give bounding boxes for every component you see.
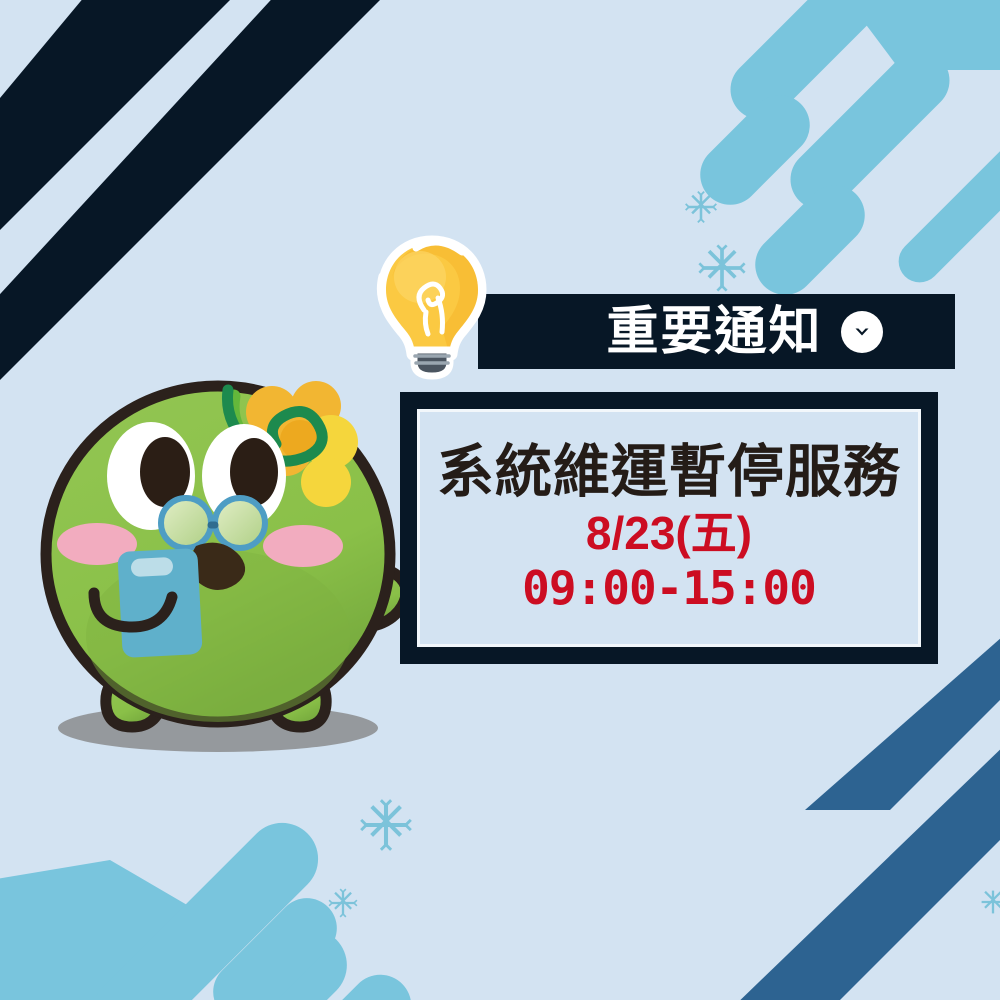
notice-poster: 系統維運暫停服務 8/23(五) 09:00-15:00 重要通知 [0, 0, 1000, 1000]
snowflake-bottom-large [360, 799, 412, 851]
notice-banner: 重要通知 [478, 294, 955, 369]
mascot-phone [117, 548, 202, 658]
mascot-character [28, 368, 448, 768]
snowflake-top-large [698, 244, 745, 291]
blue-capsule-group-top-right [688, 0, 1000, 307]
notice-date: 8/23(五) [586, 508, 752, 560]
snowflake-top-small [685, 191, 717, 223]
notice-card: 系統維運暫停服務 8/23(五) 09:00-15:00 [400, 392, 938, 664]
blue-capsule-group-bottom-left [0, 808, 424, 1000]
notice-heading: 系統維運暫停服務 [437, 441, 901, 504]
notice-card-inner: 系統維運暫停服務 8/23(五) 09:00-15:00 [417, 409, 921, 647]
diagonal-stripe-top-left-2 [0, 0, 390, 390]
banner-title: 重要通知 [550, 306, 822, 358]
snowflake-bottom-small [329, 889, 358, 918]
chevron-down-icon[interactable] [841, 311, 883, 353]
diagonal-stripe-top-left-1 [0, 0, 240, 240]
snowflake-right-small [982, 891, 1000, 914]
notice-time: 09:00-15:00 [522, 563, 816, 615]
lightbulb-icon [372, 232, 492, 382]
diagonal-stripe-bottom-right-1 [730, 740, 1000, 1000]
